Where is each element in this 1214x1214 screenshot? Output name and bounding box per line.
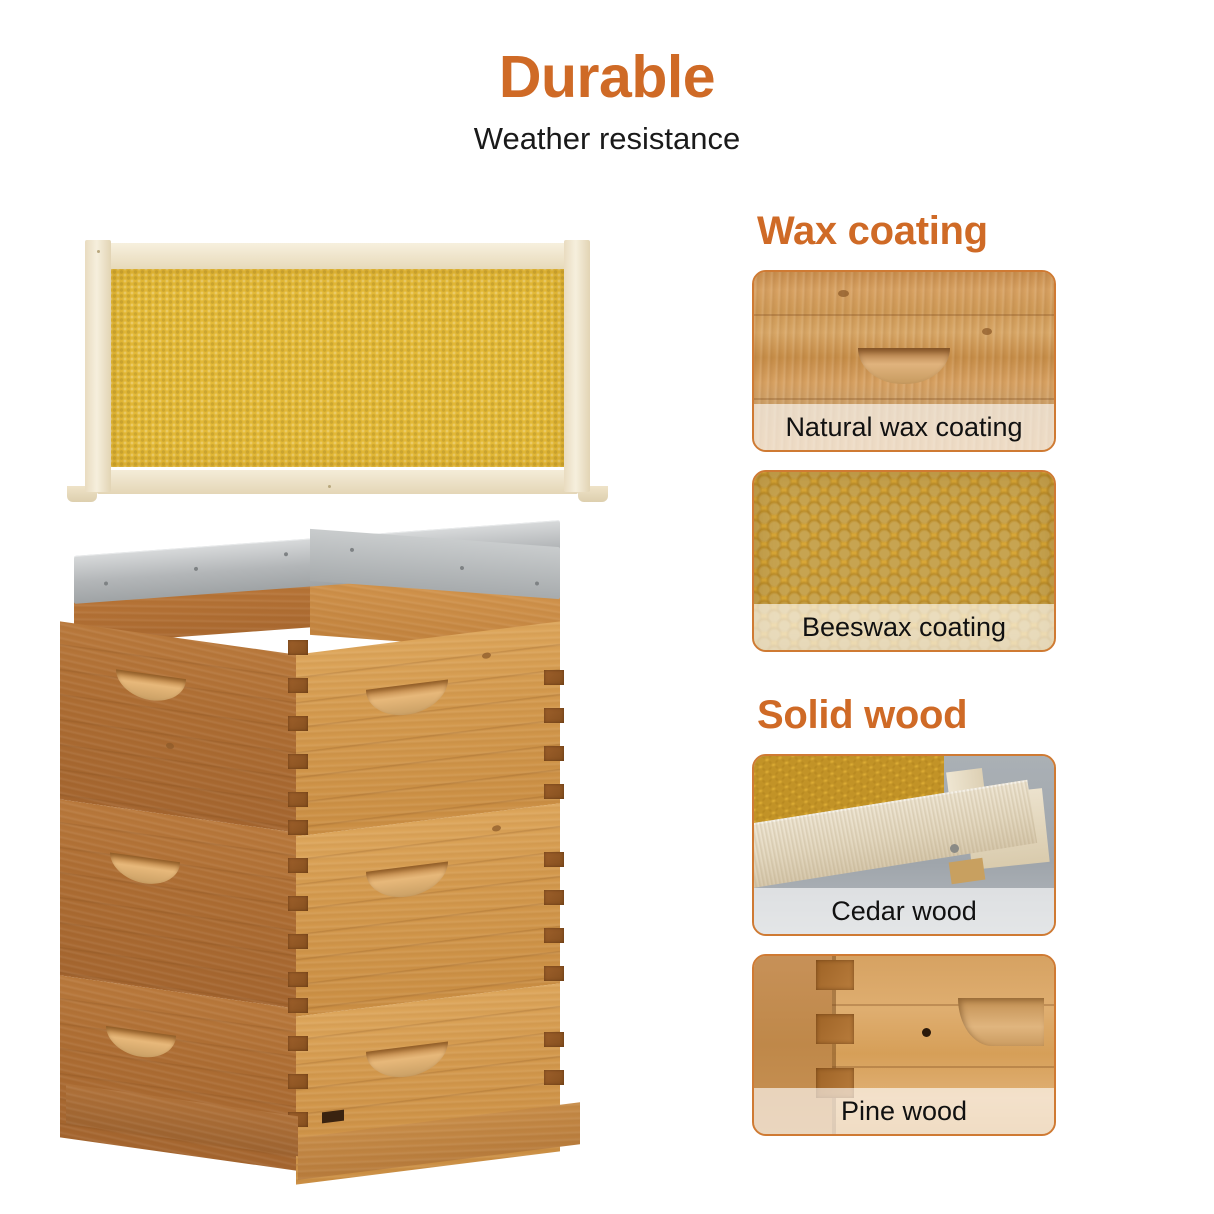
handle-cutout: [366, 679, 448, 719]
beehive-stack-photo: [60, 520, 580, 1180]
beehive-frame-photo: [85, 240, 590, 502]
card-caption-cedar-wood: Cedar wood: [754, 891, 1054, 931]
feature-card-column: Wax coating Natural wax coating Beeswax …: [740, 210, 1080, 1136]
product-photo-column: [0, 200, 660, 1210]
section-heading-wax-coating: Wax coating: [740, 210, 1080, 252]
feature-card-pine-wood[interactable]: Pine wood: [752, 954, 1056, 1136]
hive-box-middle-front-face: [296, 803, 560, 1016]
handle-cutout: [116, 669, 186, 705]
card-caption-beeswax-coating: Beeswax coating: [754, 607, 1054, 647]
hive-box-middle-side-face: [60, 799, 296, 1008]
infographic-header: Durable Weather resistance: [0, 0, 1214, 154]
handle-cutout: [958, 998, 1044, 1046]
feature-card-cedar-wood[interactable]: Cedar wood: [752, 754, 1056, 936]
feature-card-natural-wax-coating[interactable]: Natural wax coating: [752, 270, 1056, 452]
handle-cutout: [366, 1041, 448, 1081]
frame-nail-head: [950, 844, 959, 853]
frame-nail: [97, 250, 100, 253]
section-heading-solid-wood: Solid wood: [740, 694, 1080, 736]
wax-foundation-sheet: [111, 269, 564, 467]
card-caption-pine-wood: Pine wood: [754, 1091, 1054, 1131]
dovetail-finger: [816, 1014, 854, 1044]
card-caption-natural-wax-coating: Natural wax coating: [754, 407, 1054, 447]
page-subtitle: Weather resistance: [0, 107, 1214, 154]
handle-cutout: [366, 861, 448, 901]
frame-wedge-tab: [949, 858, 986, 885]
frame-bottom-bar: [97, 470, 578, 494]
handle-cutout: [106, 1026, 176, 1062]
page-title: Durable: [0, 0, 1214, 107]
frame-top-bar: [97, 243, 578, 269]
handle-cutout: [110, 852, 180, 888]
dovetail-finger: [816, 960, 854, 990]
hive-box-top-front-face: [296, 621, 560, 836]
frame-nail: [328, 485, 331, 488]
feature-card-beeswax-coating[interactable]: Beeswax coating: [752, 470, 1056, 652]
frame-side-bar-right: [564, 240, 590, 492]
wood-knot: [922, 1028, 931, 1037]
hive-box-top-side-face: [60, 621, 296, 832]
frame-side-bar-left: [85, 240, 111, 492]
